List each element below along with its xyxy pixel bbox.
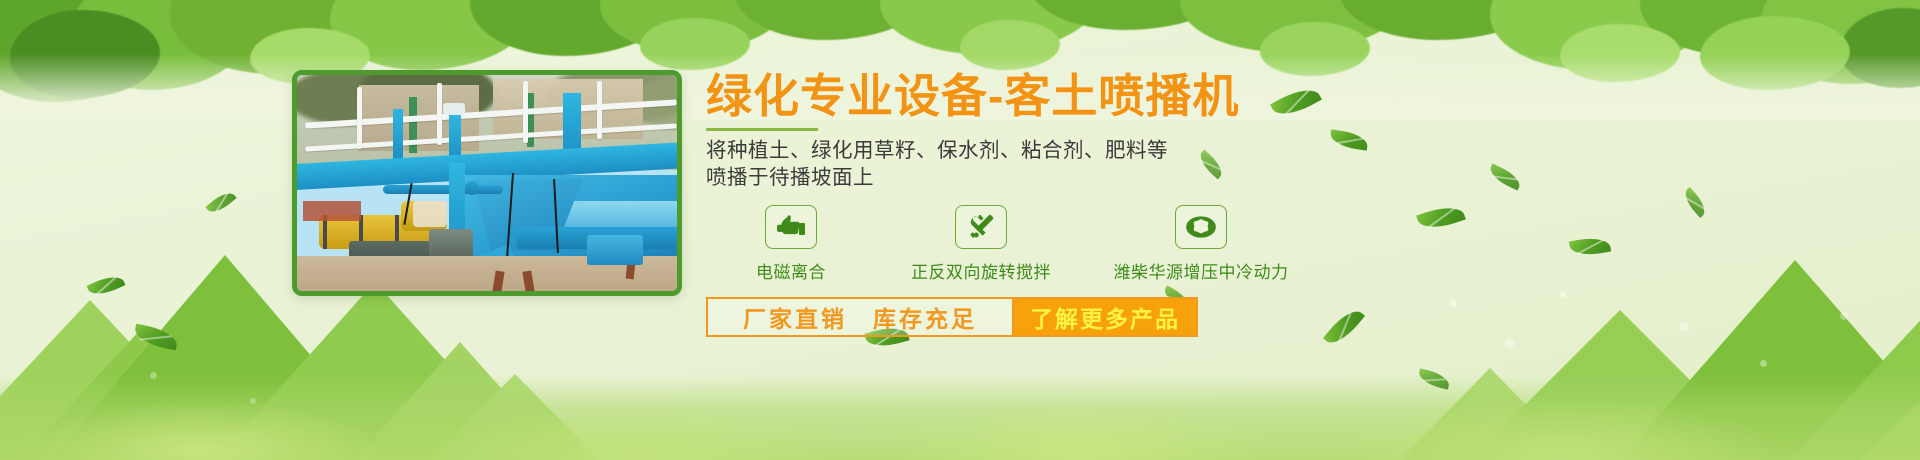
feature-label-3: 潍柴华源增压中冷动力 [1086, 258, 1316, 283]
feature-item-2: 正反双向旋转搅拌 [876, 205, 1086, 283]
page-title: 绿化专业设备-客土喷播机 [706, 72, 1706, 122]
subtitle-line-1: 将种植土、绿化用草籽、保水剂、粘合剂、肥料等 [706, 137, 1706, 164]
grass-haze [0, 340, 1920, 460]
subtitle-line-2: 喷播于待播坡面上 [706, 164, 1706, 191]
feature-label-1: 电磁离合 [706, 258, 876, 283]
cta-row: 厂家直销 库存充足 了解更多产品 [706, 297, 1198, 337]
title-divider [706, 128, 818, 131]
feature-list: 电磁离合 正反双向旋转搅拌 [706, 205, 1706, 283]
wrench-screwdriver-icon [955, 205, 1007, 249]
product-photo[interactable] [292, 70, 682, 296]
feature-label-2: 正反双向旋转搅拌 [876, 258, 1086, 283]
promo-banner: 绿化专业设备-客土喷播机 将种植土、绿化用草籽、保水剂、粘合剂、肥料等 喷播于待… [0, 0, 1920, 460]
banner-content: 绿化专业设备-客土喷播机 将种植土、绿化用草籽、保水剂、粘合剂、肥料等 喷播于待… [706, 72, 1706, 337]
engine-gear-icon [1175, 205, 1227, 249]
feature-item-1: 电磁离合 [706, 205, 876, 283]
thumbs-up-icon [765, 205, 817, 249]
sales-tagline: 厂家直销 库存充足 [706, 297, 1012, 337]
learn-more-button[interactable]: 了解更多产品 [1012, 297, 1198, 337]
feature-item-3: 潍柴华源增压中冷动力 [1086, 205, 1316, 283]
